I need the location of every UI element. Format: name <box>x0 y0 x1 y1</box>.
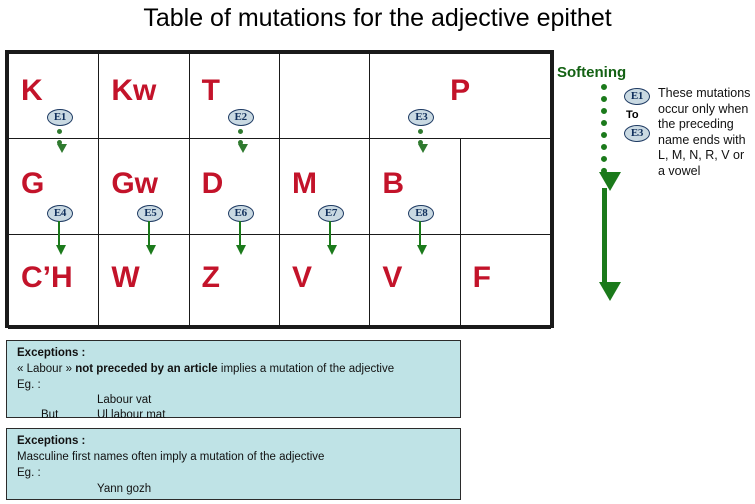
badge-e8: E8 <box>408 205 434 222</box>
cell-k: K E1 <box>9 54 99 139</box>
badge-e2: E2 <box>228 109 254 126</box>
exception-box-1: Exceptions : « Labour » not preceded by … <box>6 340 461 418</box>
cell-d: D E6 <box>189 139 279 235</box>
badge-e3: E3 <box>408 109 434 126</box>
badge-e6: E6 <box>228 205 254 222</box>
mutation-letter: Gw <box>111 169 158 199</box>
mutation-letter: K <box>21 76 43 106</box>
legend-line: the preceding <box>658 117 755 133</box>
mutation-letter: C’H <box>21 263 73 293</box>
softening-dotted-arrow-icon <box>601 84 613 174</box>
cell-b: B E8 <box>370 139 460 235</box>
table-row: K E1 Kw T E2 P E3 <box>9 54 551 139</box>
exception-but-label: But <box>41 409 58 421</box>
cell-f: F <box>460 235 550 329</box>
cell-v2: V <box>370 235 460 329</box>
legend-line: occur only when <box>658 102 755 118</box>
mutation-letter: T <box>202 76 220 106</box>
page-title: Table of mutations for the adjective epi… <box>0 4 755 33</box>
mutation-table-page: Table of mutations for the adjective epi… <box>0 0 755 504</box>
mutation-letter: F <box>473 263 491 293</box>
legend-line: These mutations <box>658 86 755 102</box>
badge-e7: E7 <box>318 205 344 222</box>
mutation-letter: V <box>382 263 402 293</box>
exception-rule: « Labour » not preceded by an article im… <box>17 363 394 375</box>
cell-t: T E2 <box>189 54 279 139</box>
exception-example-1: Yann gozh <box>97 483 151 495</box>
legend-line: L, M, N, R, V or <box>658 148 755 164</box>
mutation-letter: G <box>21 169 44 199</box>
rule-bold: not preceded by an article <box>75 363 218 375</box>
mutation-letter: P <box>450 76 470 106</box>
exception-eg-label: Eg. : <box>17 379 41 391</box>
cell-w: W <box>99 235 189 329</box>
rule-pre: « Labour » <box>17 363 75 375</box>
cell-p: P E3 <box>370 54 551 139</box>
badge-e4: E4 <box>47 205 73 222</box>
mutation-letter: D <box>202 169 224 199</box>
legend-line: a vowel <box>658 164 755 180</box>
badge-e1: E1 <box>47 109 73 126</box>
mutation-letter: W <box>111 263 139 293</box>
table-row: C’H W Z V V F <box>9 235 551 329</box>
exception-title: Exceptions : <box>17 347 85 359</box>
mutation-letter: M <box>292 169 317 199</box>
legend-to-label: To <box>626 109 656 121</box>
softening-label: Softening <box>557 64 626 81</box>
exception-rule: Masculine first names often imply a muta… <box>17 451 324 463</box>
mutation-letter: V <box>292 263 312 293</box>
softening-solid-arrow-icon <box>602 188 607 284</box>
cell-empty-row1 <box>279 54 369 139</box>
rule-post: implies a mutation of the adjective <box>218 363 394 375</box>
mutation-letter: B <box>382 169 404 199</box>
legend-line: name ends with <box>658 133 755 149</box>
cell-v1: V <box>279 235 369 329</box>
cell-empty-row2 <box>460 139 550 235</box>
cell-ch: C’H <box>9 235 99 329</box>
mutation-table: K E1 Kw T E2 P E3 <box>5 50 554 328</box>
cell-kw: Kw <box>99 54 189 139</box>
mutation-letter: Z <box>202 263 220 293</box>
exception-example-1: Labour vat <box>97 394 151 406</box>
exception-title: Exceptions : <box>17 435 85 447</box>
legend-description: These mutations occur only when the prec… <box>658 86 755 179</box>
badge-e3-legend: E3 <box>624 125 650 142</box>
legend-keys: E1 To E3 <box>622 88 656 146</box>
cell-g: G E4 <box>9 139 99 235</box>
mutation-letter: Kw <box>111 76 156 106</box>
cell-gw: Gw E5 <box>99 139 189 235</box>
cell-z: Z <box>189 235 279 329</box>
exception-box-2: Exceptions : Masculine first names often… <box>6 428 461 500</box>
cell-m: M E7 <box>279 139 369 235</box>
exception-example-2: Ul labour mat <box>97 409 165 421</box>
exception-eg-label: Eg. : <box>17 467 41 479</box>
table-row: G E4 Gw E5 D E6 M E7 <box>9 139 551 235</box>
badge-e5: E5 <box>137 205 163 222</box>
badge-e1-legend: E1 <box>624 88 650 105</box>
